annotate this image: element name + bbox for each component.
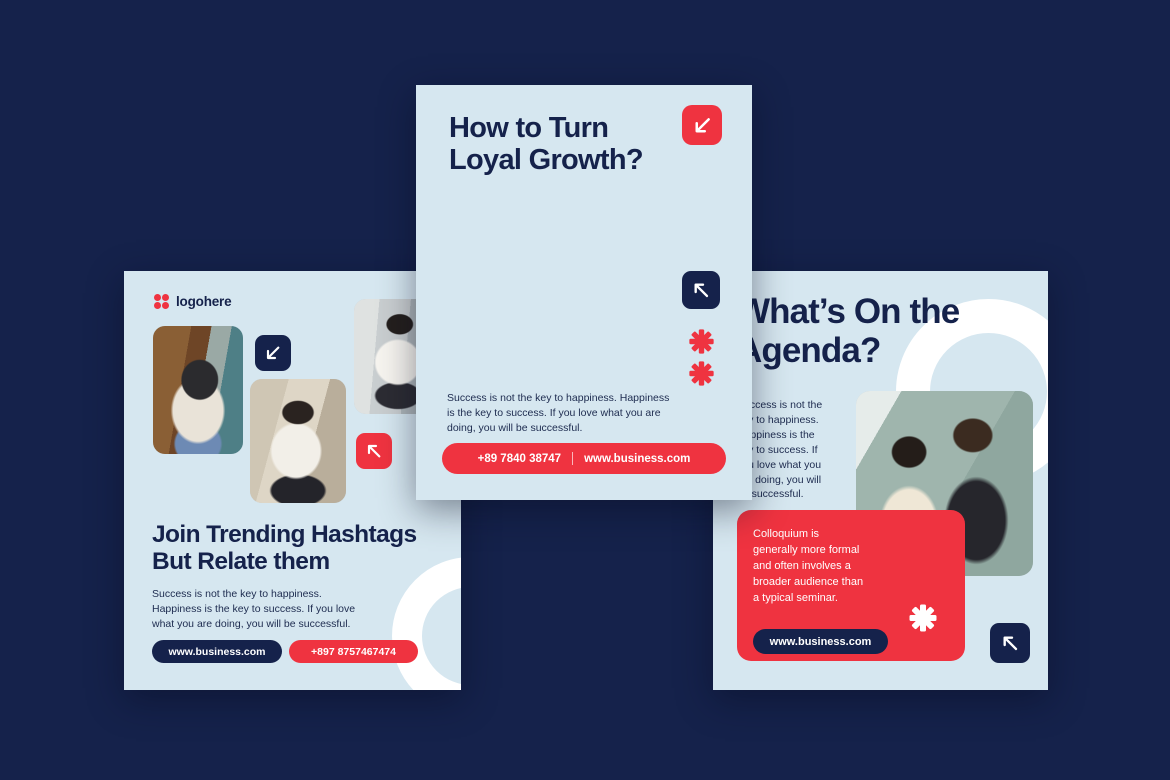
photo-woman-white-shirt xyxy=(250,379,346,503)
left-card-phone-button-label: +897 8757467474 xyxy=(311,646,396,658)
center-card-contact-pill[interactable]: +89 7840 38747 www.business.com xyxy=(442,443,726,474)
center-card-title: How to Turn Loyal Growth? xyxy=(449,113,699,177)
right-card-title-line1: What’s On the xyxy=(737,293,1047,332)
right-card-title: What’s On the Agenda? xyxy=(737,293,1047,370)
red-panel-text: Colloquium is generally more formal and … xyxy=(753,527,866,607)
center-card-title-line1: How to Turn xyxy=(449,113,699,145)
center-card-body: Success is not the key to happiness. Hap… xyxy=(447,391,673,436)
photo-woman-sitting-steps xyxy=(153,326,243,454)
social-post-card-hashtags[interactable]: logohere Join Trending Hashtags But Rela… xyxy=(124,271,461,690)
center-card-title-line2: Loyal Growth? xyxy=(449,145,699,177)
brand-logo-label: logohere xyxy=(176,294,231,309)
arrow-down-left-badge-red xyxy=(682,105,722,145)
contact-pill-website: www.business.com xyxy=(584,453,690,465)
left-card-body: Success is not the key to happiness. Hap… xyxy=(152,587,374,632)
asterisk-burst-icon xyxy=(908,603,938,633)
asterisk-burst-icon xyxy=(688,328,715,355)
social-post-card-growth[interactable]: How to Turn Loyal Growth? xyxy=(416,85,752,500)
left-card-title-line2: But Relate them xyxy=(152,549,452,576)
arrow-down-left-badge-navy xyxy=(255,335,291,371)
right-card-website-button-label: www.business.com xyxy=(770,636,872,648)
left-card-title-line1: Join Trending Hashtags xyxy=(152,522,452,549)
arrow-up-left-badge-navy xyxy=(990,623,1030,663)
right-card-website-button[interactable]: www.business.com xyxy=(753,629,888,654)
social-post-card-agenda[interactable]: What’s On the Agenda? Success is not the… xyxy=(713,271,1048,690)
asterisk-burst-icon xyxy=(688,360,715,387)
left-card-website-button-label: www.business.com xyxy=(168,646,265,658)
photo-woman-leaning-window xyxy=(442,197,688,383)
arrow-up-left-badge-navy xyxy=(682,271,720,309)
brand-logo[interactable]: logohere xyxy=(154,294,231,309)
contact-pill-phone: +89 7840 38747 xyxy=(478,453,561,465)
ring-decoration xyxy=(392,557,461,690)
left-card-website-button[interactable]: www.business.com xyxy=(152,640,282,663)
right-card-title-line2: Agenda? xyxy=(737,332,1047,371)
flower-logo-icon xyxy=(154,294,169,309)
arrow-up-left-badge-red xyxy=(356,433,392,469)
contact-pill-separator xyxy=(572,452,573,465)
left-card-title: Join Trending Hashtags But Relate them xyxy=(152,522,452,576)
left-card-phone-button[interactable]: +897 8757467474 xyxy=(289,640,418,663)
design-mockup-canvas: What’s On the Agenda? Success is not the… xyxy=(0,0,1170,780)
